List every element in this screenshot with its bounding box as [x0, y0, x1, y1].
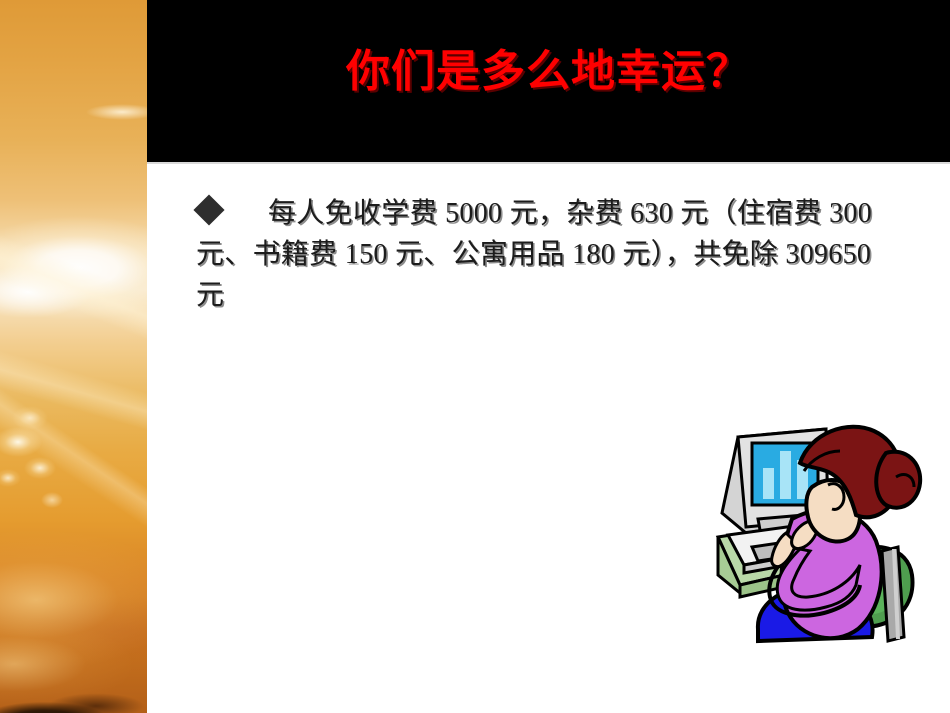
bullet-item: ◆ 每人免收学费 5000 元，杂费 630 元（住宿费 300 元、书籍费 1… — [196, 193, 896, 316]
bullet-text: 每人免收学费 5000 元，杂费 630 元（住宿费 300 元、书籍费 150… — [196, 193, 896, 316]
slide-canvas: 你们是多么地幸运？ ◆ 每人免收学费 5000 元，杂费 630 元（住宿费 3… — [0, 0, 950, 713]
woman-at-computer-clipart — [700, 415, 940, 651]
title-divider-rule — [147, 162, 950, 164]
screen-bar-2 — [780, 451, 791, 499]
body-content: ◆ 每人免收学费 5000 元，杂费 630 元（住宿费 300 元、书籍费 1… — [196, 193, 896, 316]
sidebar-bottom-shadow — [0, 0, 147, 713]
screen-bar-1 — [763, 468, 774, 499]
sidebar-decorative-image — [0, 0, 147, 713]
slide-title: 你们是多么地幸运？ — [147, 48, 950, 96]
